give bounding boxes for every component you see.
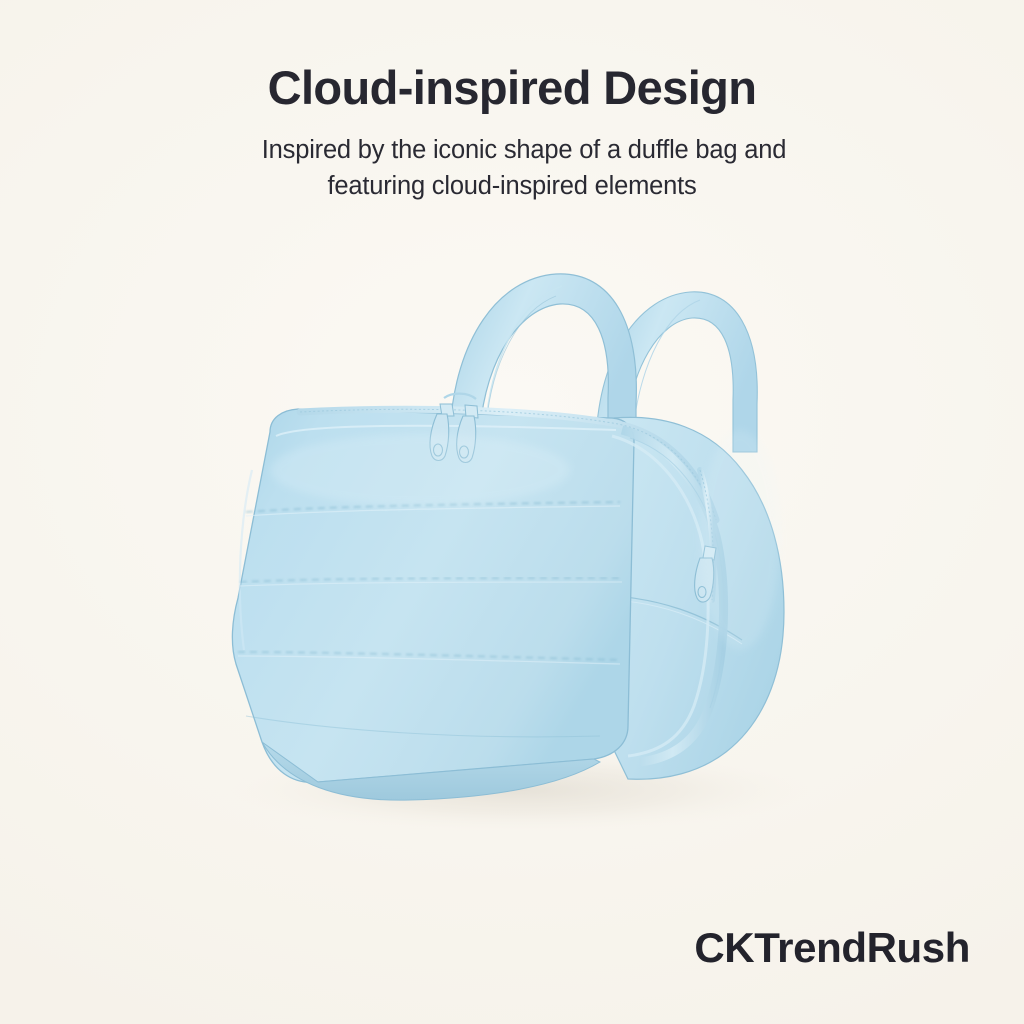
header-block: Cloud-inspired Design Inspired by the ic… [0, 64, 1024, 204]
front-highlight [270, 434, 570, 506]
subtitle-line-1: Inspired by the iconic shape of a duffle… [262, 132, 786, 168]
page-title: Cloud-inspired Design [0, 64, 1024, 111]
side-highlight [700, 430, 780, 650]
subtitle-line-2: featuring cloud-inspired elements [0, 168, 1024, 204]
subtitle-block: Inspired by the iconic shape of a duffle… [0, 132, 1024, 204]
subtitle-line-1-clip: Inspired by the iconic shape of a duffle… [0, 132, 1024, 168]
product-card-canvas: Cloud-inspired Design Inspired by the ic… [0, 0, 1024, 1024]
brand-logo: CKTrendRush [694, 924, 970, 972]
